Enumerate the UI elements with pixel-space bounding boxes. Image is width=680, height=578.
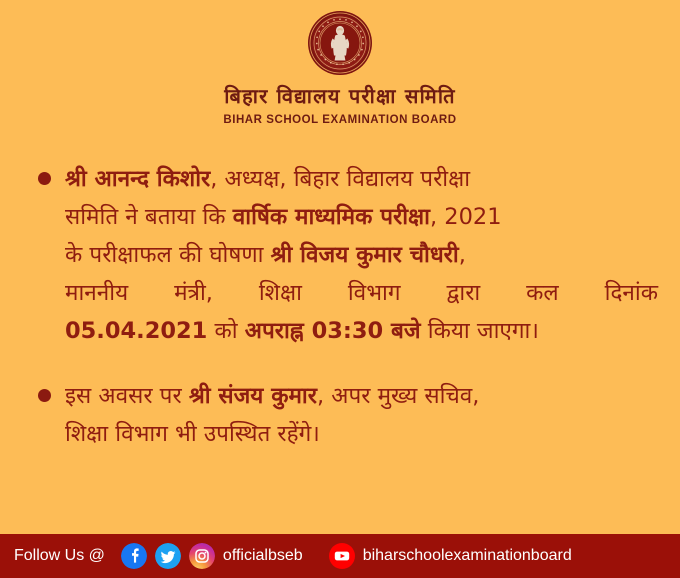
notice-paragraph: इस अवसर पर श्री संजय कुमार, अपर मुख्य सच…: [65, 377, 658, 453]
notice-paragraph: श्री आनन्द किशोर, अध्यक्ष, बिहार विद्याल…: [65, 160, 658, 350]
youtube-icon[interactable]: [329, 543, 355, 569]
social-footer: Follow Us @: [0, 534, 680, 578]
notice-text: दिनांक: [605, 274, 658, 312]
notice-text: के परीक्षाफल की घोषणा: [65, 242, 271, 268]
notice-line: इस अवसर पर श्री संजय कुमार, अपर मुख्य सच…: [65, 377, 658, 415]
notice-text: इस अवसर पर: [65, 383, 189, 409]
org-name-hindi: बिहार विद्यालय परीक्षा समिति: [224, 85, 455, 107]
notice-bullet: श्री आनन्द किशोर, अध्यक्ष, बिहार विद्याल…: [22, 160, 658, 350]
notice-text: , अपर मुख्य सचिव,: [317, 383, 479, 409]
notice-text-emphasis: श्री संजय कुमार: [189, 383, 317, 409]
social-handle[interactable]: officialbseb: [223, 547, 303, 565]
notice-text-emphasis: अपराह्न 03:30 बजे: [245, 318, 421, 344]
notice-text: विभाग: [348, 274, 401, 312]
notice-text-emphasis: वार्षिक माध्यमिक परीक्षा: [233, 204, 430, 230]
notice-line: के परीक्षाफल की घोषणा श्री विजय कुमार चौ…: [65, 236, 658, 274]
twitter-icon[interactable]: [155, 543, 181, 569]
notice-line: श्री आनन्द किशोर, अध्यक्ष, बिहार विद्याल…: [65, 160, 658, 198]
follow-us-label: Follow Us @: [14, 547, 105, 565]
notice-text: किया जाएगा।: [421, 318, 539, 344]
notice-text: शिक्षा: [259, 274, 302, 312]
notice-text: कल: [526, 274, 559, 312]
notice-line: माननीयमंत्री,शिक्षाविभागद्वाराकलदिनांक: [65, 274, 658, 312]
bseb-seal-logo: [307, 10, 373, 76]
notice-text-emphasis: 05.04.2021: [65, 318, 207, 344]
bullet-dot-icon: [38, 172, 51, 185]
notice-text: समिति ने बताया कि: [65, 204, 233, 230]
org-name-english: BIHAR SCHOOL EXAMINATION BOARD: [223, 114, 456, 126]
notice-text-emphasis: श्री आनन्द किशोर: [65, 166, 210, 192]
poster-header: बिहार विद्यालय परीक्षा समिति BIHAR SCHOO…: [0, 0, 680, 126]
bullet-dot-icon: [38, 389, 51, 402]
facebook-icon[interactable]: [121, 543, 147, 569]
poster-root: बिहार विद्यालय परीक्षा समिति BIHAR SCHOO…: [0, 0, 680, 578]
youtube-group: biharschoolexaminationboard: [329, 543, 572, 569]
notice-text: द्वारा: [446, 274, 480, 312]
notice-text: , अध्यक्ष, बिहार विद्यालय परीक्षा: [210, 166, 470, 192]
notice-text-emphasis: श्री विजय कुमार चौधरी: [271, 242, 459, 268]
notice-text: को: [207, 318, 244, 344]
social-icon-group: [121, 543, 223, 569]
notice-text: माननीय: [65, 274, 128, 312]
notice-text: , 2021: [430, 204, 502, 230]
notice-line: 05.04.2021 को अपराह्न 03:30 बजे किया जाए…: [65, 312, 658, 350]
notice-line: समिति ने बताया कि वार्षिक माध्यमिक परीक्…: [65, 198, 658, 236]
notice-text: ,: [459, 242, 466, 268]
instagram-icon[interactable]: [189, 543, 215, 569]
youtube-handle[interactable]: biharschoolexaminationboard: [363, 547, 572, 565]
notice-line: शिक्षा विभाग भी उपस्थित रहेंगे।: [65, 415, 658, 453]
notice-text: शिक्षा विभाग भी उपस्थित रहेंगे।: [65, 421, 320, 447]
notice-body: श्री आनन्द किशोर, अध्यक्ष, बिहार विद्याल…: [0, 126, 680, 534]
notice-bullet: इस अवसर पर श्री संजय कुमार, अपर मुख्य सच…: [22, 377, 658, 453]
notice-text: मंत्री,: [174, 274, 213, 312]
